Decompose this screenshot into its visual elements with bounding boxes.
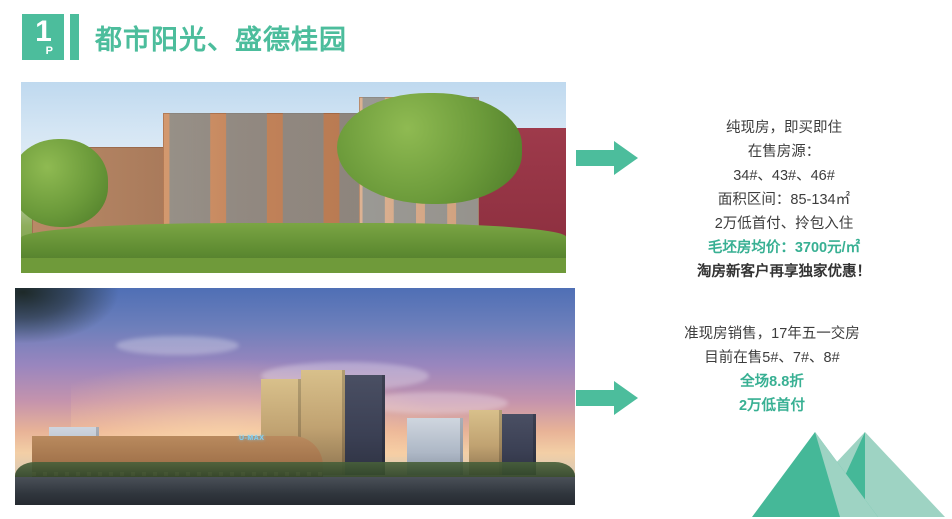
photo2-road: [15, 477, 575, 505]
page-header: 1 P 都市阳光、盛德桂园: [22, 14, 347, 60]
photo1-grass: [21, 258, 566, 273]
info-line-discount: 全场8.8折: [612, 370, 932, 394]
mountains-decoration: [748, 424, 952, 519]
info-line: 2万低首付、拎包入住: [624, 212, 944, 236]
page-title: 都市阳光、盛德桂园: [95, 18, 347, 57]
info-line: 准现房销售，17年五一交房: [612, 322, 932, 346]
photo2-mall-sign: U-MAX: [239, 435, 264, 442]
info-line: 在售房源：: [624, 140, 944, 164]
info-line: 纯现房，即买即住: [624, 116, 944, 140]
badge-sub-label: P: [46, 46, 53, 57]
badge-number: 1: [22, 16, 64, 48]
info-line-price: 毛坯房均价：3700元/㎡: [624, 236, 944, 260]
info-block-bottom: 准现房销售，17年五一交房 目前在售5#、7#、8# 全场8.8折 2万低首付: [612, 322, 932, 418]
info-line: 面积区间：85-134㎡: [624, 188, 944, 212]
photo2-foreground-branch: [15, 288, 144, 357]
info-block-top: 纯现房，即买即住 在售房源： 34#、43#、46# 面积区间：85-134㎡ …: [624, 116, 944, 284]
info-line-promo: 淘房新客户再享独家优惠！: [624, 260, 944, 284]
info-line-downpayment: 2万低首付: [612, 394, 932, 418]
badge-accent-bar: [70, 14, 79, 60]
info-line: 目前在售5#、7#、8#: [612, 346, 932, 370]
photo1-tree-left: [21, 139, 108, 227]
info-line: 34#、43#、46#: [624, 164, 944, 188]
commercial-complex-rendering: U-MAX: [15, 288, 575, 505]
section-number-badge: 1 P: [22, 14, 64, 60]
photo1-tree-main: [337, 93, 522, 204]
residential-building-photo: [21, 82, 566, 273]
photo2-tower-c: [345, 375, 384, 475]
